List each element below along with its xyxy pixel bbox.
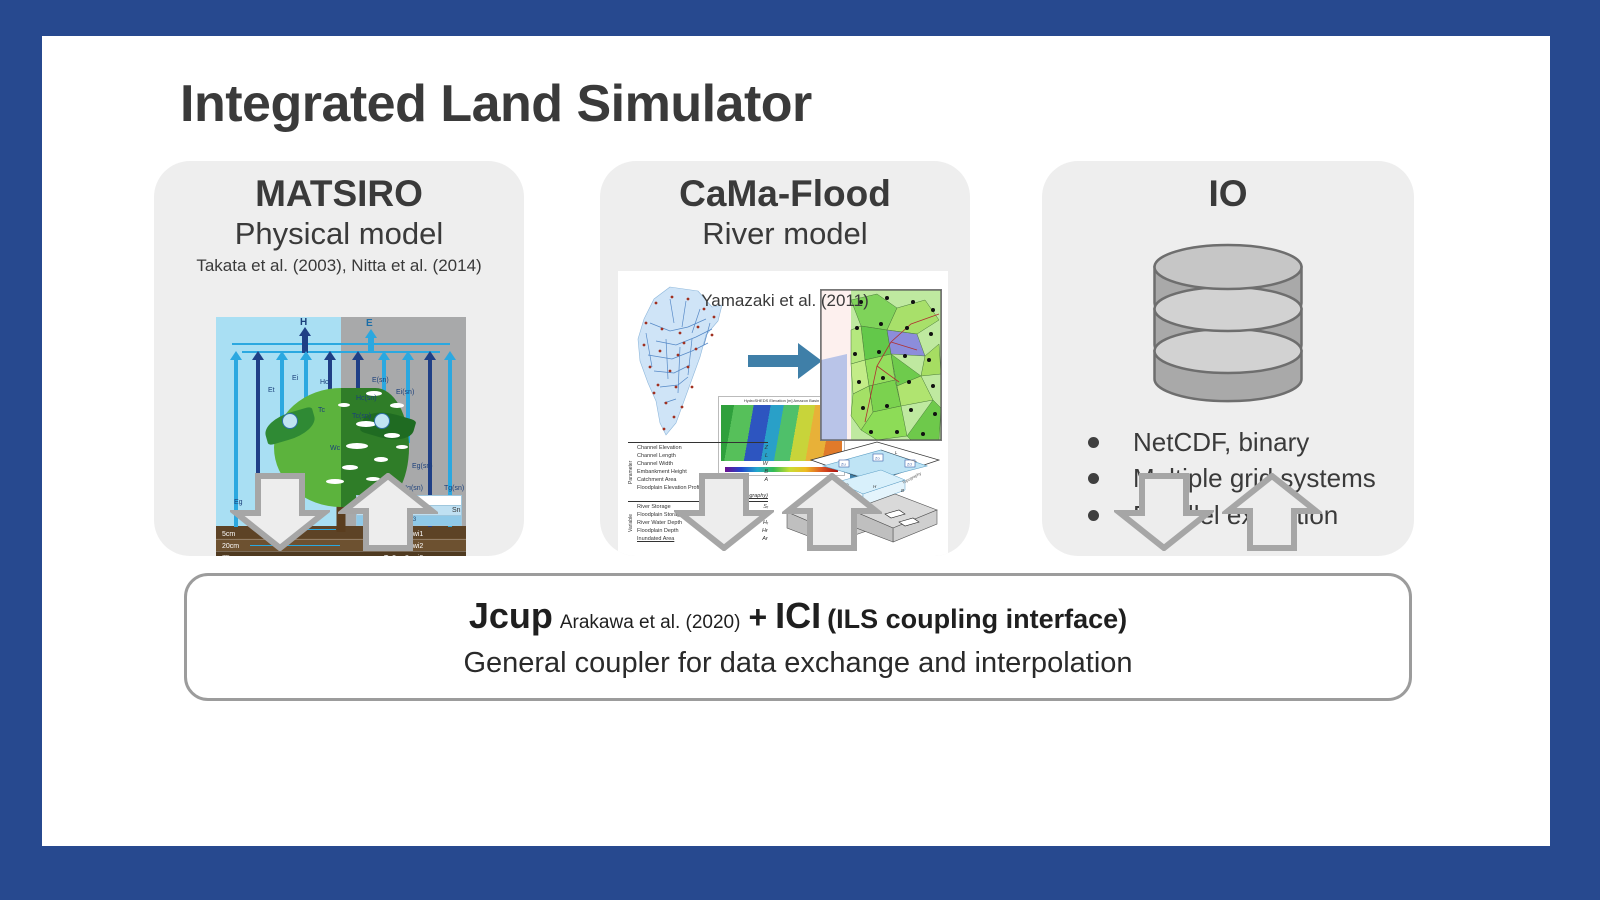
bullet-dot-icon xyxy=(1088,473,1099,484)
coupler-title-line: Jcup Arakawa et al. (2020) + ICI (ILS co… xyxy=(469,595,1127,637)
coupler-jcup-label: Jcup xyxy=(469,595,553,637)
page-title: Integrated Land Simulator xyxy=(180,74,812,134)
variable-group-label: Variable xyxy=(628,503,637,543)
panel-cama-subtitle: River model xyxy=(600,218,970,251)
connector-cama-down xyxy=(674,473,774,551)
coupler-ici-label: ICI xyxy=(775,595,821,637)
panel-matsiro-citation: Takata et al. (2003), Nitta et al. (2014… xyxy=(154,256,524,276)
panel-io-title: IO xyxy=(1042,175,1414,214)
slide-canvas: Integrated Land Simulator MATSIRO Physic… xyxy=(42,36,1550,846)
connector-io-up xyxy=(1222,473,1322,551)
connector-matsiro-up xyxy=(338,473,438,551)
io-bullet-text: NetCDF, binary xyxy=(1133,429,1309,456)
panel-cama-citation: Yamazaki et al. (2011) xyxy=(600,291,970,311)
bullet-dot-icon xyxy=(1088,510,1099,521)
catchment-polygon-map xyxy=(820,289,942,441)
panel-matsiro-subtitle: Physical model xyxy=(154,218,524,251)
coupler-description: General coupler for data exchange and in… xyxy=(463,647,1132,680)
coupler-plus-symbol: + xyxy=(748,599,767,636)
bullet-dot-icon xyxy=(1088,437,1099,448)
database-cylinder-icon xyxy=(1151,239,1306,404)
parameter-group-label: Parameter xyxy=(628,444,637,500)
list-item: NetCDF, binary xyxy=(1088,429,1376,456)
svg-text:Zd: Zd xyxy=(907,462,912,467)
svg-text:Zo: Zo xyxy=(875,456,880,461)
connector-io-down xyxy=(1114,473,1214,551)
svg-text:Topography: Topography xyxy=(901,471,922,485)
connector-matsiro-down xyxy=(230,473,330,551)
connector-cama-up xyxy=(782,473,882,551)
panel-matsiro-title: MATSIRO xyxy=(154,175,524,214)
cama-arrow-right-icon xyxy=(746,337,826,385)
svg-text:B: B xyxy=(901,488,904,493)
panel-cama-title: CaMa-Flood xyxy=(600,175,970,214)
svg-text:Zu: Zu xyxy=(841,462,846,467)
coupler-jcup-citation: Arakawa et al. (2020) xyxy=(560,612,741,634)
coupler-box[interactable]: Jcup Arakawa et al. (2020) + ICI (ILS co… xyxy=(184,573,1412,701)
coupler-ici-expansion: (ILS coupling interface) xyxy=(827,604,1127,635)
